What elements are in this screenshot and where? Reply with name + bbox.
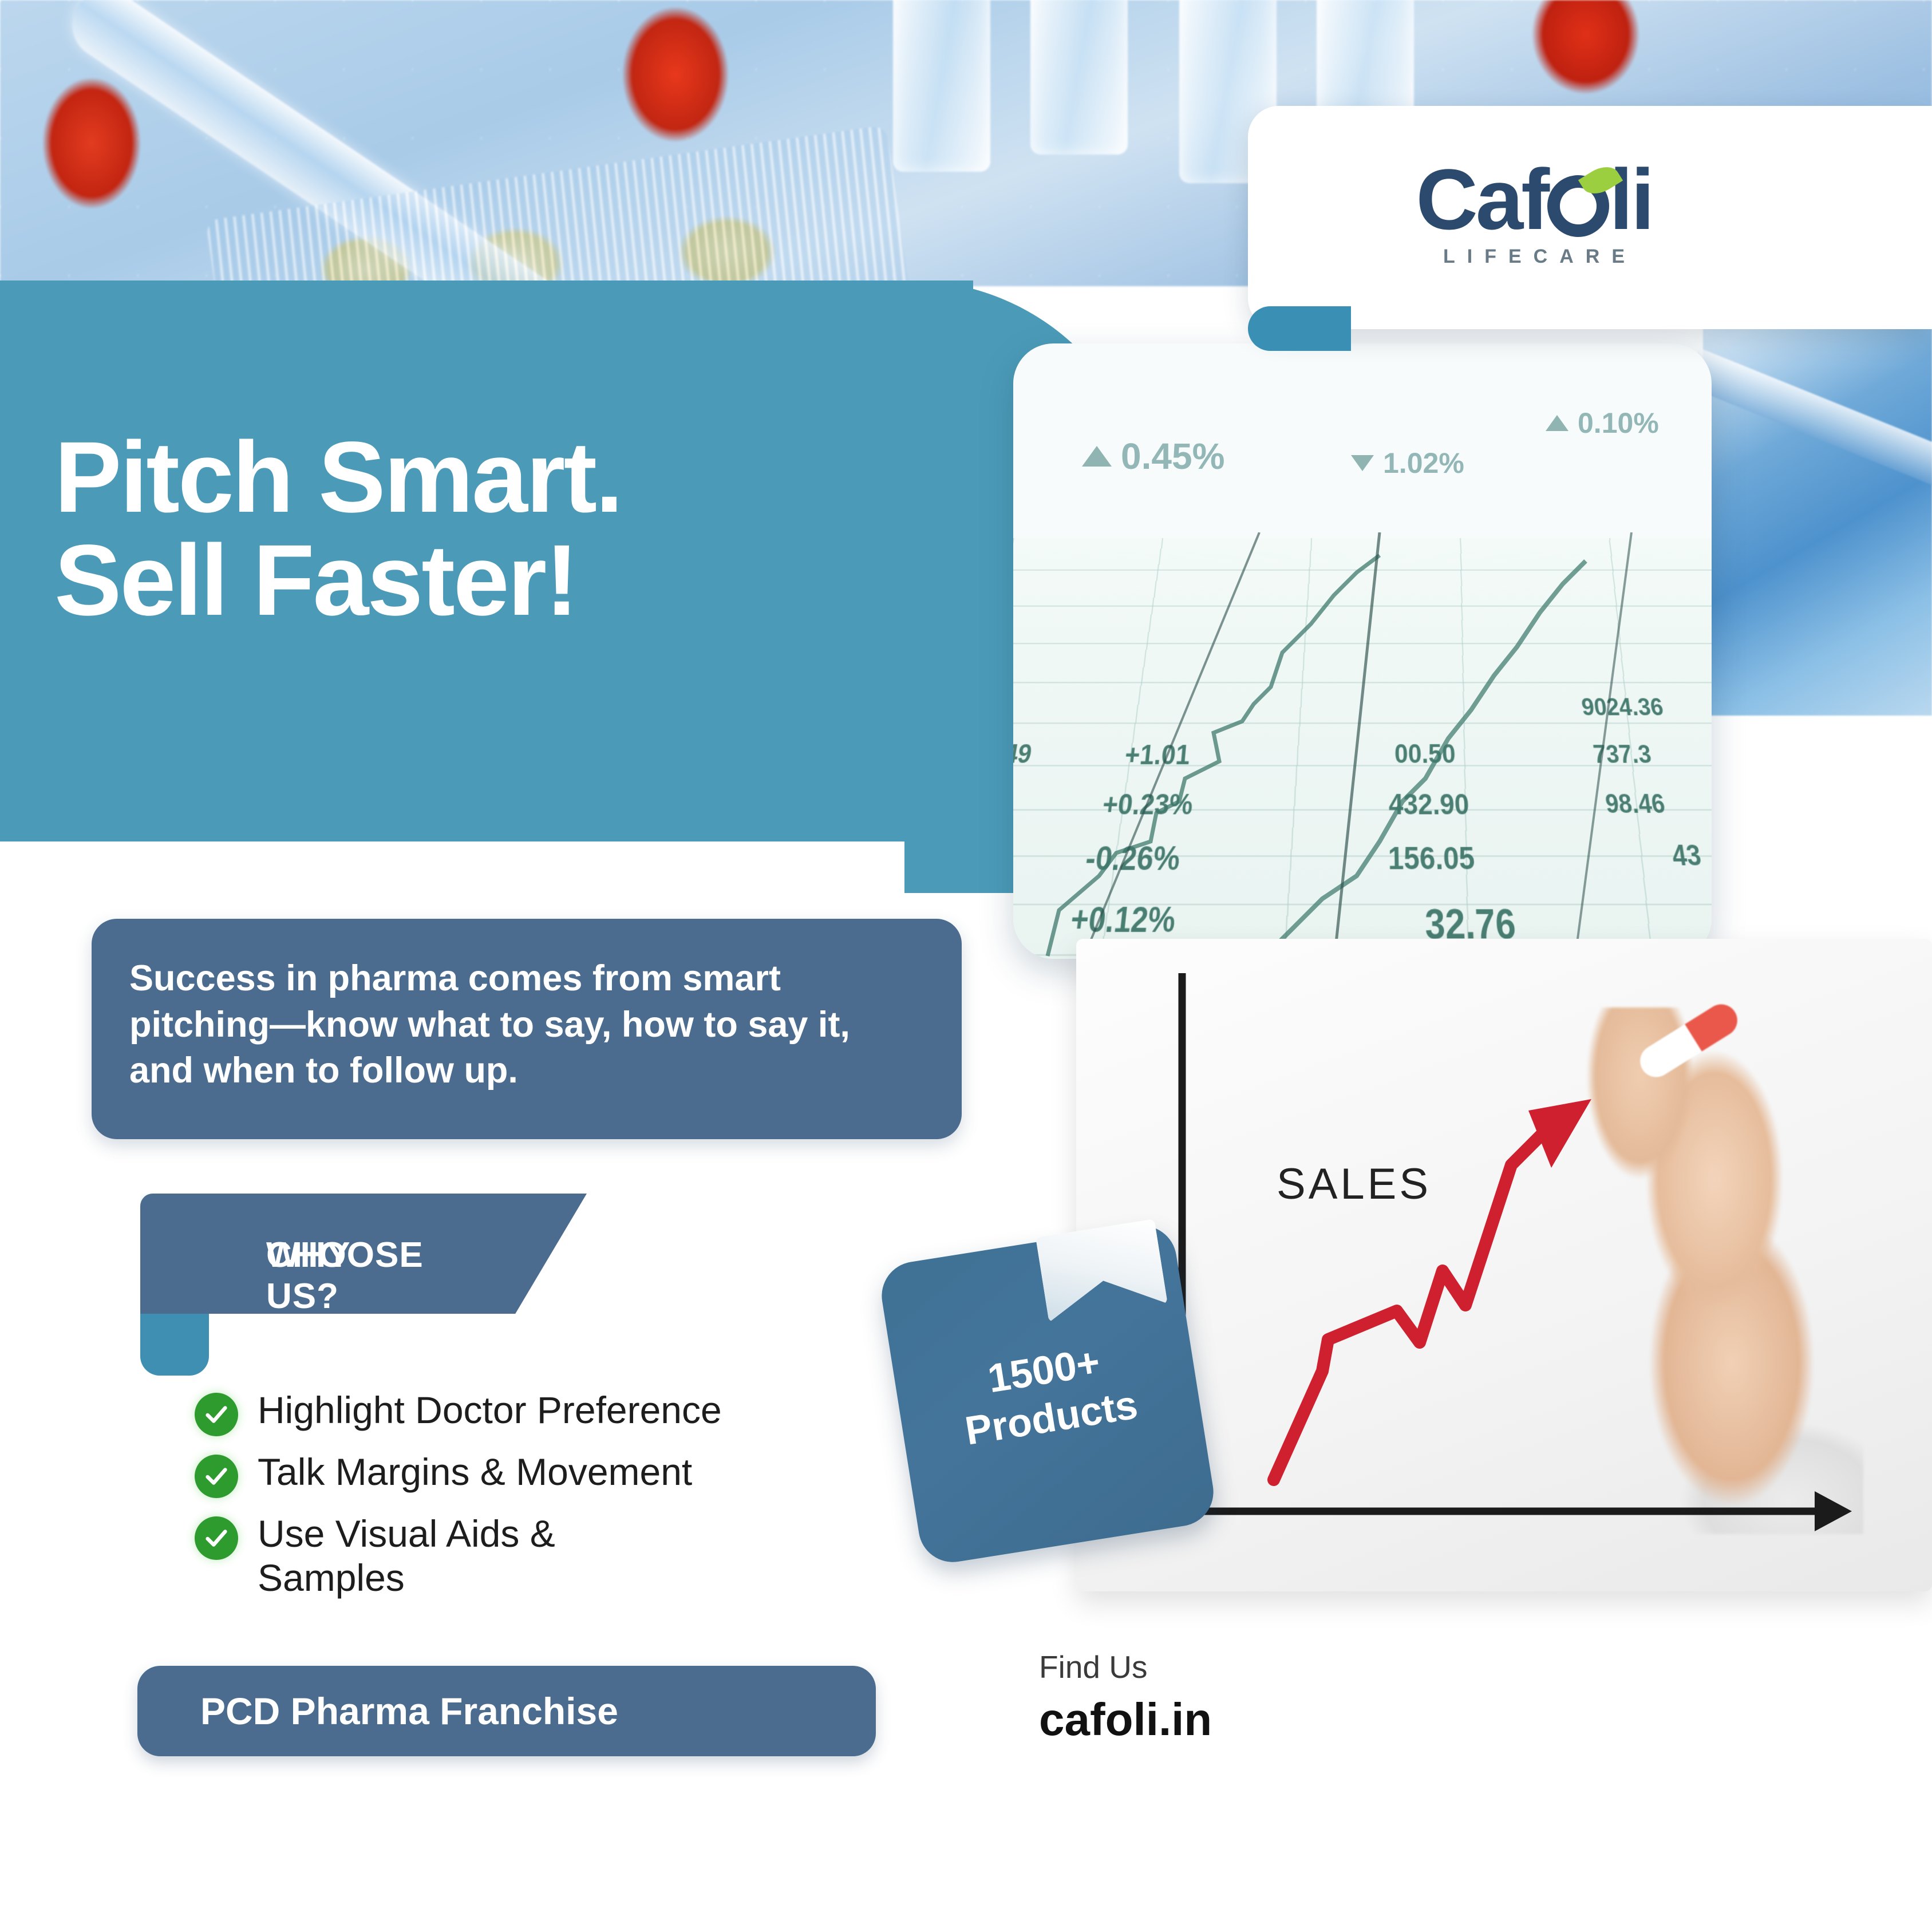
sales-arrowhead [1528,1099,1591,1168]
logo-word-head: Caf [1416,151,1547,247]
pcd-pharma-franchise-label: PCD Pharma Franchise [137,1689,618,1733]
list-item: Talk Margins & Movement [195,1450,967,1498]
triangle-up-icon [1082,446,1112,467]
logo-word-tail: li [1609,151,1652,247]
check-circle-icon [195,1455,238,1498]
list-item: Use Visual Aids & Samples [195,1512,967,1599]
triangle-up-icon [1546,415,1568,431]
logo-accent-tab [1248,306,1351,351]
check-circle-icon [195,1393,238,1436]
ticker-row: 0.45% 1.02% 0.10% [1013,343,1712,532]
headline-line-1: Pitch Smart. [54,421,622,534]
find-us-label: Find Us [1039,1649,1212,1685]
list-item-label: Use Visual Aids & Samples [258,1512,693,1599]
logo-tagline: LIFECARE [1432,246,1637,268]
check-circle-icon [195,1516,238,1560]
ticker-value: 1.02% [1383,447,1464,480]
page-title: Pitch Smart. Sell Faster! [54,426,947,632]
ticker-value: 0.45% [1121,435,1224,477]
list-item-label: Highlight Doctor Preference [258,1388,722,1432]
poster-canvas: Pitch Smart. Sell Faster! +1.01 +0.23% -… [0,0,1932,1932]
badge-line-2: Products [962,1382,1141,1453]
list-item-label: Talk Margins & Movement [258,1450,692,1494]
products-count-label: 1500+Products [954,1333,1141,1455]
pcd-pharma-franchise-button[interactable]: PCD Pharma Franchise [137,1666,876,1756]
find-us-block: Find Us cafoli.in [1039,1649,1212,1746]
website-link[interactable]: cafoli.in [1039,1693,1212,1746]
vial-photo-element [1030,0,1128,155]
intro-text-card: Success in pharma comes from smart pitch… [92,919,962,1139]
ticker-value: 0.10% [1578,406,1659,440]
stock-trend-lines [1013,532,1712,959]
vial-photo-element [893,0,990,172]
brand-logo: Cafli LIFECARE [1374,146,1694,278]
why-line-2: CHOOSE US? [266,1235,424,1317]
headline-line-2: Sell Faster! [54,530,947,633]
products-count-badge: 1500+Products [877,1221,1219,1567]
intro-text: Success in pharma comes from smart pitch… [92,919,962,1131]
logo-leaf-o-icon [1547,175,1609,237]
stock-chart-card: +1.01 +0.23% -0.26% +0.12% 5.49 29 00.50… [1013,343,1712,959]
badge-fold-corner [1036,1219,1168,1322]
ticker-item-down-1: 1.02% [1351,447,1464,480]
benefits-list: Highlight Doctor Preference Talk Margins… [195,1388,967,1613]
chart-annotation-sales: SALES [1277,1159,1431,1209]
chart-x-arrowhead [1815,1491,1852,1531]
triangle-down-icon [1351,455,1374,471]
why-banner-tab [140,1314,209,1376]
why-choose-us-banner: WHYCHOOSE US? [140,1194,587,1314]
list-item: Highlight Doctor Preference [195,1388,967,1436]
ticker-item-up-2: 0.10% [1546,406,1659,440]
logo-wordmark: Cafli [1416,156,1652,242]
ticker-item-up-1: 0.45% [1082,435,1224,477]
